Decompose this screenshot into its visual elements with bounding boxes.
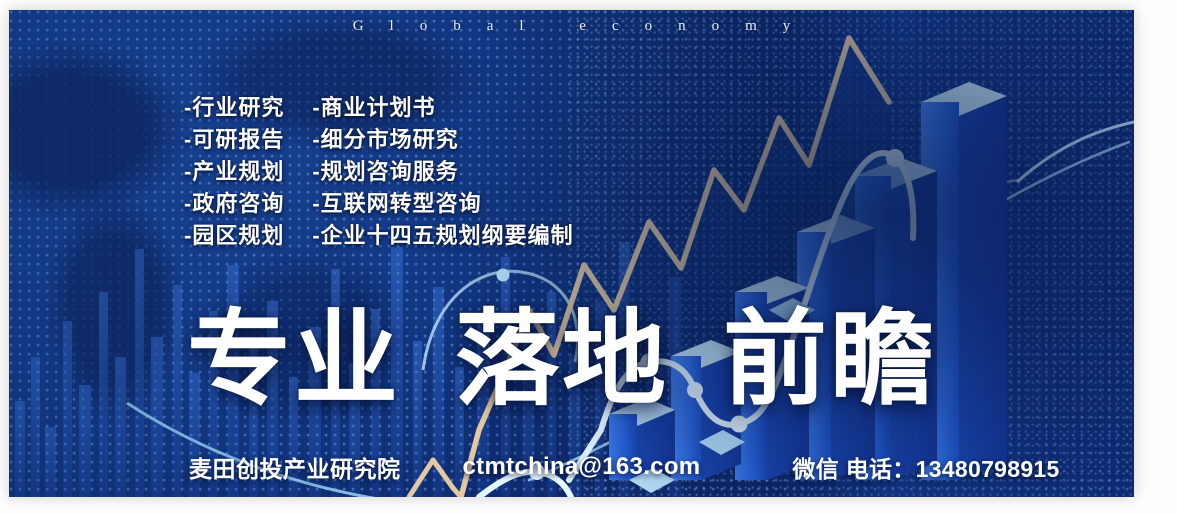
service-item: -产业规划	[184, 157, 284, 187]
service-item: -行业研究	[184, 93, 284, 123]
upper-right-arc	[1017, 122, 1134, 182]
service-item: -可研报告	[184, 125, 284, 155]
organization-name: 麦田创投产业研究院	[189, 450, 401, 484]
headline-word-1: 专业	[187, 308, 401, 412]
phone-number: 微信 电话：13480798915	[792, 450, 1059, 484]
headline: 专业 落地 前瞻	[187, 308, 937, 412]
service-column-right: -商业计划书 -细分市场研究 -规划咨询服务 -互联网转型咨询 -企业十四五规划…	[312, 93, 573, 251]
email-address[interactable]: ctmtchina@163.com	[463, 453, 701, 481]
banner-frame: Global economy -行业研究 -可研报告 -产业规划 -政府咨询 -…	[0, 0, 1177, 514]
service-item: -互联网转型咨询	[312, 189, 573, 219]
service-item: -细分市场研究	[312, 125, 573, 155]
contact-row: 麦田创投产业研究院 ctmtchina@163.com 微信 电话：134807…	[189, 450, 1060, 484]
headline-word-2: 落地	[455, 308, 669, 412]
economy-chart	[9, 10, 1134, 497]
service-item: -政府咨询	[184, 189, 284, 219]
service-column-left: -行业研究 -可研报告 -产业规划 -政府咨询 -园区规划	[184, 93, 284, 251]
bar-side	[959, 96, 1007, 480]
service-lists: -行业研究 -可研报告 -产业规划 -政府咨询 -园区规划 -商业计划书 -细分…	[184, 93, 574, 251]
service-item: -商业计划书	[312, 93, 573, 123]
service-item: -企业十四五规划纲要编制	[312, 221, 573, 251]
headline-word-3: 前瞻	[723, 308, 937, 412]
mid-sweep-node	[497, 269, 510, 282]
promo-banner: Global economy -行业研究 -可研报告 -产业规划 -政府咨询 -…	[9, 10, 1134, 497]
service-item: -规划咨询服务	[312, 157, 573, 187]
kicker-text: Global economy	[9, 18, 1134, 35]
service-item: -园区规划	[184, 221, 284, 251]
